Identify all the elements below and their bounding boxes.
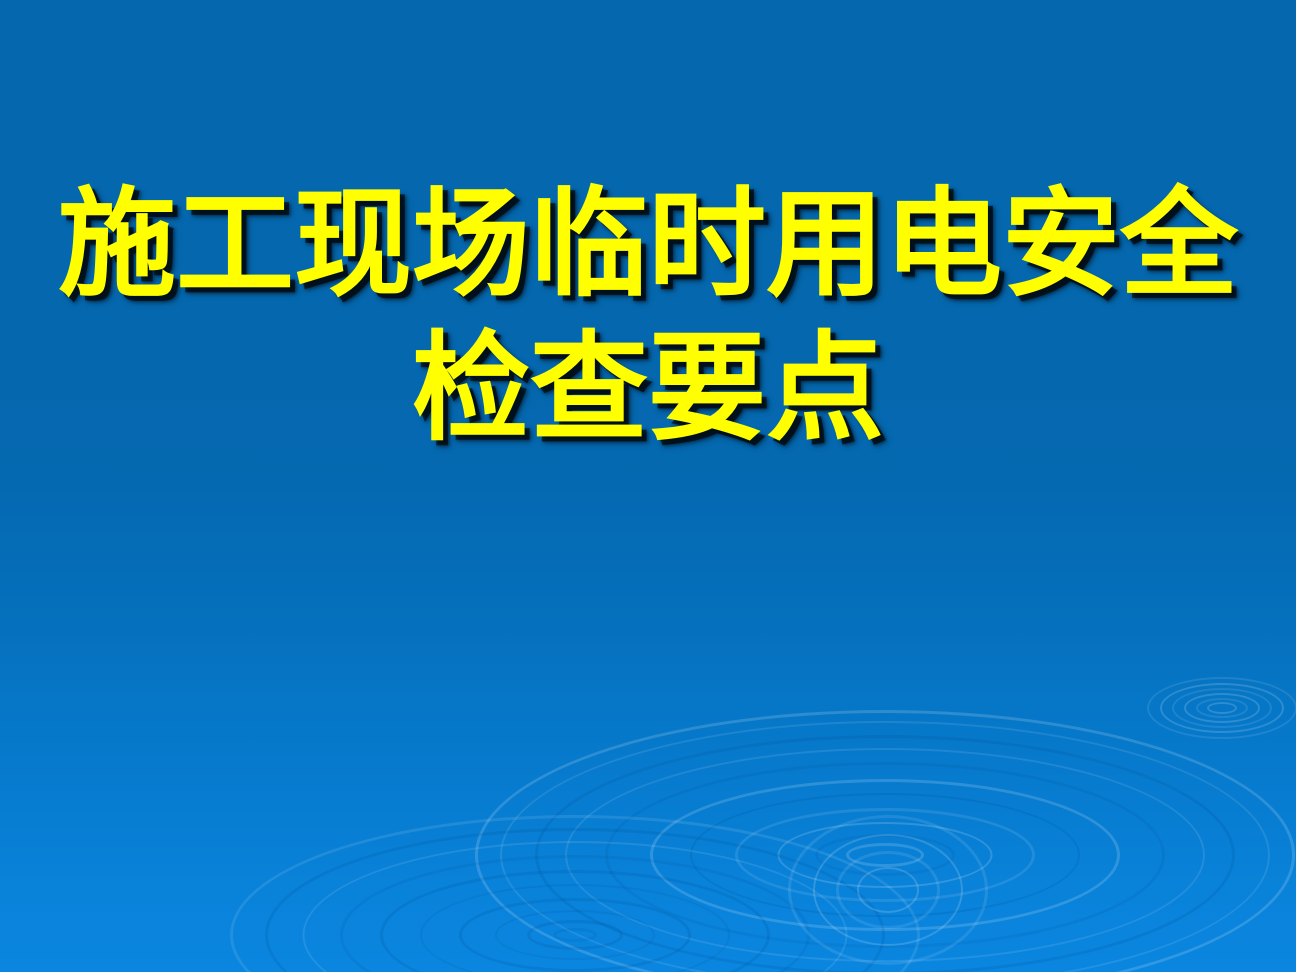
slide-background [0,0,1296,972]
title-line-1: 施工现场临时用电安全 [0,172,1296,316]
slide-title: 施工现场临时用电安全 检查要点 [0,172,1296,460]
slide-canvas: 施工现场临时用电安全 检查要点 [0,0,1296,972]
title-line-2: 检查要点 [0,316,1296,460]
